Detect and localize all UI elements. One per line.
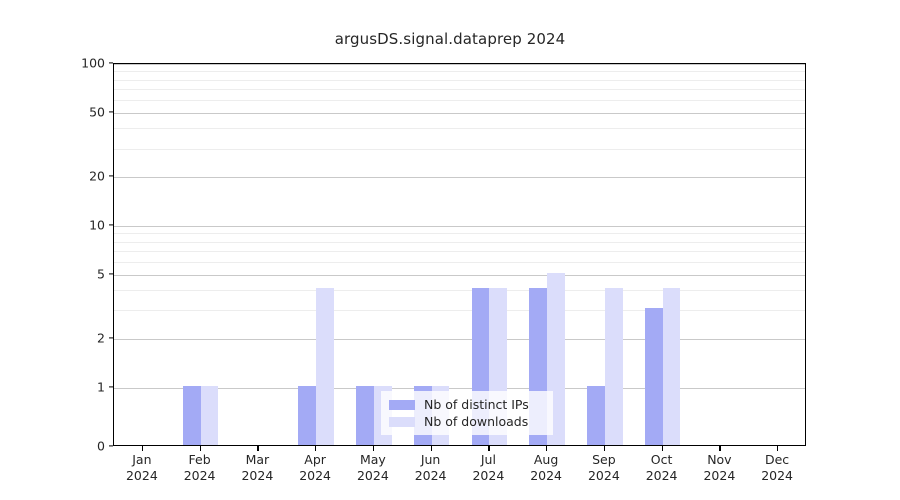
gridline-minor — [114, 89, 805, 90]
bar-downloads — [663, 288, 681, 445]
x-tick-mark — [662, 446, 663, 451]
x-tick-mark — [777, 446, 778, 451]
gridline-major — [114, 226, 805, 227]
x-tick-label-month: Dec — [740, 452, 814, 468]
gridline-minor — [114, 100, 805, 101]
gridline-minor — [114, 149, 805, 150]
y-tick-label: 0 — [61, 439, 105, 454]
x-tick-mark — [604, 446, 605, 451]
y-tick-mark — [109, 176, 113, 177]
bar-downloads — [201, 386, 219, 445]
bar-ips — [645, 308, 663, 445]
x-tick-mark — [200, 446, 201, 451]
y-axis-tick-labels: 0125102050100 — [55, 63, 105, 446]
x-tick-mark — [142, 446, 143, 451]
y-tick-label: 5 — [61, 266, 105, 281]
gridline-major — [114, 113, 805, 114]
gridline-minor — [114, 71, 805, 72]
gridline-minor — [114, 80, 805, 81]
y-tick-label: 50 — [61, 104, 105, 119]
x-axis-tick-labels: Jan2024Feb2024Mar2024Apr2024May2024Jun20… — [113, 452, 806, 492]
x-tick-mark — [719, 446, 720, 451]
y-tick-label: 100 — [61, 56, 105, 71]
bar-ips — [587, 386, 605, 445]
x-axis-tick-marks — [113, 446, 806, 451]
bar-ips — [183, 386, 201, 445]
gridline-minor — [114, 233, 805, 234]
x-tick-label-year: 2024 — [740, 468, 814, 484]
y-tick-label: 2 — [61, 330, 105, 345]
y-tick-label: 1 — [61, 379, 105, 394]
gridline-minor — [114, 251, 805, 252]
x-tick-mark — [546, 446, 547, 451]
bar-ips — [356, 386, 374, 445]
y-tick-mark — [109, 273, 113, 274]
y-tick-mark — [109, 386, 113, 387]
legend-swatch-ips-icon — [389, 400, 415, 410]
gridline-major — [114, 339, 805, 340]
y-tick-label: 20 — [61, 169, 105, 184]
chart-legend[interactable]: Nb of distinct IPs Nb of downloads — [381, 391, 553, 435]
y-tick-mark — [109, 62, 113, 63]
chart-figure: argusDS.signal.dataprep 2024 01251020501… — [0, 0, 900, 500]
y-axis-tick-marks — [109, 63, 113, 446]
gridline-minor — [114, 262, 805, 263]
x-tick-mark — [373, 446, 374, 451]
y-tick-label: 10 — [61, 217, 105, 232]
x-tick-mark — [315, 446, 316, 451]
bar-downloads — [605, 288, 623, 445]
legend-swatch-downloads-icon — [389, 417, 415, 427]
bar-downloads — [316, 288, 334, 445]
x-tick-label: Dec2024 — [740, 452, 814, 484]
y-tick-mark — [109, 111, 113, 112]
y-tick-mark — [109, 224, 113, 225]
gridline-minor — [114, 310, 805, 311]
x-tick-mark — [488, 446, 489, 451]
y-tick-mark — [109, 337, 113, 338]
x-tick-mark — [257, 446, 258, 451]
gridline-major — [114, 275, 805, 276]
gridline-minor — [114, 242, 805, 243]
legend-item-ips[interactable]: Nb of distinct IPs — [389, 396, 545, 413]
chart-title: argusDS.signal.dataprep 2024 — [0, 30, 900, 48]
bar-ips — [298, 386, 316, 445]
plot-area — [113, 63, 806, 446]
legend-label-downloads: Nb of downloads — [424, 414, 528, 429]
x-tick-mark — [431, 446, 432, 451]
gridline-minor — [114, 290, 805, 291]
gridline-major — [114, 64, 805, 65]
gridline-minor — [114, 128, 805, 129]
legend-label-ips: Nb of distinct IPs — [424, 397, 529, 412]
gridline-major — [114, 177, 805, 178]
legend-item-downloads[interactable]: Nb of downloads — [389, 413, 545, 430]
